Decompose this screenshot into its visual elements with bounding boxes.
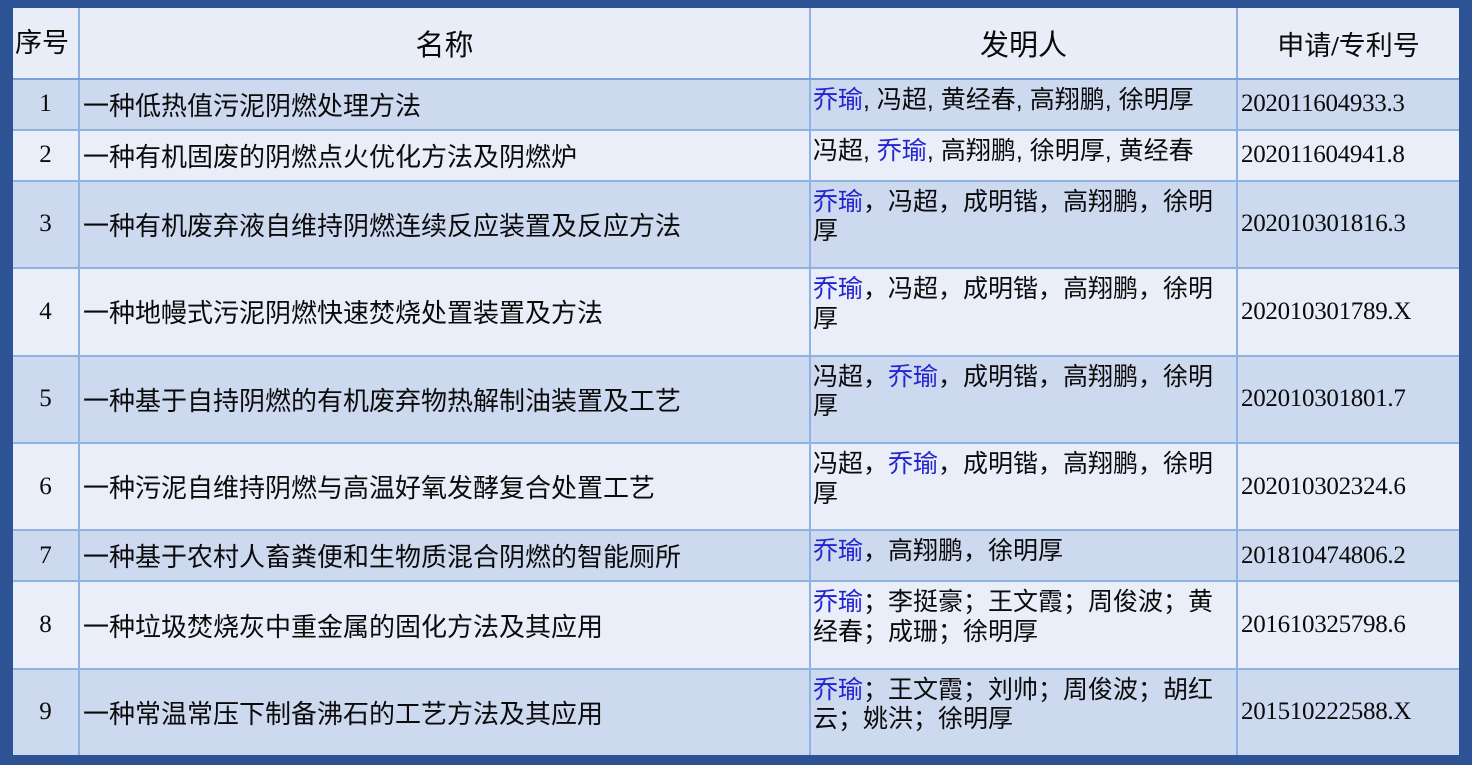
cell-patent-name: 一种地幔式污泥阴燃快速焚烧处置装置及方法	[79, 268, 810, 355]
table-header: 序号 名称 发明人 申请/专利号	[13, 8, 1459, 79]
inventor-text: ；李挺豪；王文霞；周俊波；黄经春；成珊；徐明厚	[813, 588, 1213, 646]
table-row: 6一种污泥自维持阴燃与高温好氧发酵复合处置工艺冯超，乔瑜，成明锴，高翔鹏，徐明厚…	[13, 443, 1459, 530]
cell-inventors: 乔瑜；王文霞；刘帅；周俊波；胡红云；姚洪；徐明厚	[810, 669, 1237, 755]
inventor-text: , 高翔鹏, 徐明厚, 黄经春	[927, 137, 1194, 165]
cell-inventors: 乔瑜；李挺豪；王文霞；周俊波；黄经春；成珊；徐明厚	[810, 581, 1237, 668]
inventor-highlighted: 乔瑜	[813, 86, 863, 114]
column-header-name: 名称	[79, 8, 810, 79]
cell-patent-number: 202011604941.8	[1237, 130, 1459, 181]
table-row: 3一种有机废弃液自维持阴燃连续反应装置及反应方法乔瑜，冯超，成明锴，高翔鹏，徐明…	[13, 181, 1459, 268]
table-body: 1一种低热值污泥阴燃处理方法乔瑜, 冯超, 黄经春, 高翔鹏, 徐明厚20201…	[13, 79, 1459, 755]
cell-patent-name: 一种基于自持阴燃的有机废弃物热解制油装置及工艺	[79, 356, 810, 443]
cell-inventors: 乔瑜，高翔鹏，徐明厚	[810, 530, 1237, 581]
inventor-text: , 冯超, 黄经春, 高翔鹏, 徐明厚	[863, 86, 1194, 114]
cell-patent-number: 202010301816.3	[1237, 181, 1459, 268]
cell-inventors: 乔瑜, 冯超, 黄经春, 高翔鹏, 徐明厚	[810, 79, 1237, 130]
inventor-highlighted: 乔瑜	[877, 137, 927, 165]
cell-inventors: 乔瑜，冯超，成明锴，高翔鹏，徐明厚	[810, 268, 1237, 355]
patent-table-frame: 序号 名称 发明人 申请/专利号 1一种低热值污泥阴燃处理方法乔瑜, 冯超, 黄…	[0, 0, 1472, 765]
cell-patent-number: 201810474806.2	[1237, 530, 1459, 581]
cell-patent-name: 一种常温常压下制备沸石的工艺方法及其应用	[79, 669, 810, 755]
table-row: 4一种地幔式污泥阴燃快速焚烧处置装置及方法乔瑜，冯超，成明锴，高翔鹏，徐明厚20…	[13, 268, 1459, 355]
table-row: 7一种基于农村人畜粪便和生物质混合阴燃的智能厕所乔瑜，高翔鹏，徐明厚201810…	[13, 530, 1459, 581]
column-header-inventor: 发明人	[810, 8, 1237, 79]
patent-table: 序号 名称 发明人 申请/专利号 1一种低热值污泥阴燃处理方法乔瑜, 冯超, 黄…	[13, 8, 1459, 755]
cell-index: 8	[13, 581, 79, 668]
inventor-text: 冯超,	[813, 137, 877, 165]
cell-index: 4	[13, 268, 79, 355]
cell-index: 1	[13, 79, 79, 130]
cell-patent-name: 一种污泥自维持阴燃与高温好氧发酵复合处置工艺	[79, 443, 810, 530]
cell-patent-name: 一种低热值污泥阴燃处理方法	[79, 79, 810, 130]
cell-patent-number: 202010301801.7	[1237, 356, 1459, 443]
table-row: 2一种有机固废的阴燃点火优化方法及阴燃炉冯超, 乔瑜, 高翔鹏, 徐明厚, 黄经…	[13, 130, 1459, 181]
cell-patent-name: 一种有机废弃液自维持阴燃连续反应装置及反应方法	[79, 181, 810, 268]
cell-inventors: 冯超，乔瑜，成明锴，高翔鹏，徐明厚	[810, 356, 1237, 443]
cell-patent-name: 一种基于农村人畜粪便和生物质混合阴燃的智能厕所	[79, 530, 810, 581]
cell-index: 5	[13, 356, 79, 443]
column-header-number-text: 申请/专利号	[1277, 31, 1420, 61]
cell-patent-number: 201610325798.6	[1237, 581, 1459, 668]
inventor-highlighted: 乔瑜	[813, 275, 863, 303]
inventor-text: ，冯超，成明锴，高翔鹏，徐明厚	[813, 188, 1213, 246]
cell-patent-name: 一种垃圾焚烧灰中重金属的固化方法及其应用	[79, 581, 810, 668]
inventor-highlighted: 乔瑜	[888, 363, 938, 391]
table-row: 8一种垃圾焚烧灰中重金属的固化方法及其应用乔瑜；李挺豪；王文霞；周俊波；黄经春；…	[13, 581, 1459, 668]
cell-index: 6	[13, 443, 79, 530]
table-row: 1一种低热值污泥阴燃处理方法乔瑜, 冯超, 黄经春, 高翔鹏, 徐明厚20201…	[13, 79, 1459, 130]
inventor-text: 冯超，	[813, 363, 888, 391]
cell-inventors: 乔瑜，冯超，成明锴，高翔鹏，徐明厚	[810, 181, 1237, 268]
cell-patent-number: 202010302324.6	[1237, 443, 1459, 530]
cell-patent-number: 201510222588.X	[1237, 669, 1459, 755]
cell-inventors: 冯超，乔瑜，成明锴，高翔鹏，徐明厚	[810, 443, 1237, 530]
table-row: 5一种基于自持阴燃的有机废弃物热解制油装置及工艺冯超，乔瑜，成明锴，高翔鹏，徐明…	[13, 356, 1459, 443]
inventor-text: ，冯超，成明锴，高翔鹏，徐明厚	[813, 275, 1213, 333]
inventor-highlighted: 乔瑜	[813, 537, 863, 565]
cell-index: 7	[13, 530, 79, 581]
inventor-highlighted: 乔瑜	[888, 450, 938, 478]
inventor-text: ，高翔鹏，徐明厚	[863, 537, 1063, 565]
column-header-number: 申请/专利号	[1237, 8, 1459, 79]
inventor-text: 冯超，	[813, 450, 888, 478]
cell-index: 3	[13, 181, 79, 268]
cell-index: 2	[13, 130, 79, 181]
cell-patent-number: 202010301789.X	[1237, 268, 1459, 355]
column-header-index: 序号	[13, 8, 79, 79]
inventor-highlighted: 乔瑜	[813, 188, 863, 216]
inventor-highlighted: 乔瑜	[813, 676, 863, 704]
cell-inventors: 冯超, 乔瑜, 高翔鹏, 徐明厚, 黄经春	[810, 130, 1237, 181]
header-row: 序号 名称 发明人 申请/专利号	[13, 8, 1459, 79]
cell-patent-number: 202011604933.3	[1237, 79, 1459, 130]
inventor-text: ；王文霞；刘帅；周俊波；胡红云；姚洪；徐明厚	[813, 676, 1213, 734]
inventor-highlighted: 乔瑜	[813, 588, 863, 616]
cell-patent-name: 一种有机固废的阴燃点火优化方法及阴燃炉	[79, 130, 810, 181]
cell-index: 9	[13, 669, 79, 755]
table-row: 9一种常温常压下制备沸石的工艺方法及其应用乔瑜；王文霞；刘帅；周俊波；胡红云；姚…	[13, 669, 1459, 755]
